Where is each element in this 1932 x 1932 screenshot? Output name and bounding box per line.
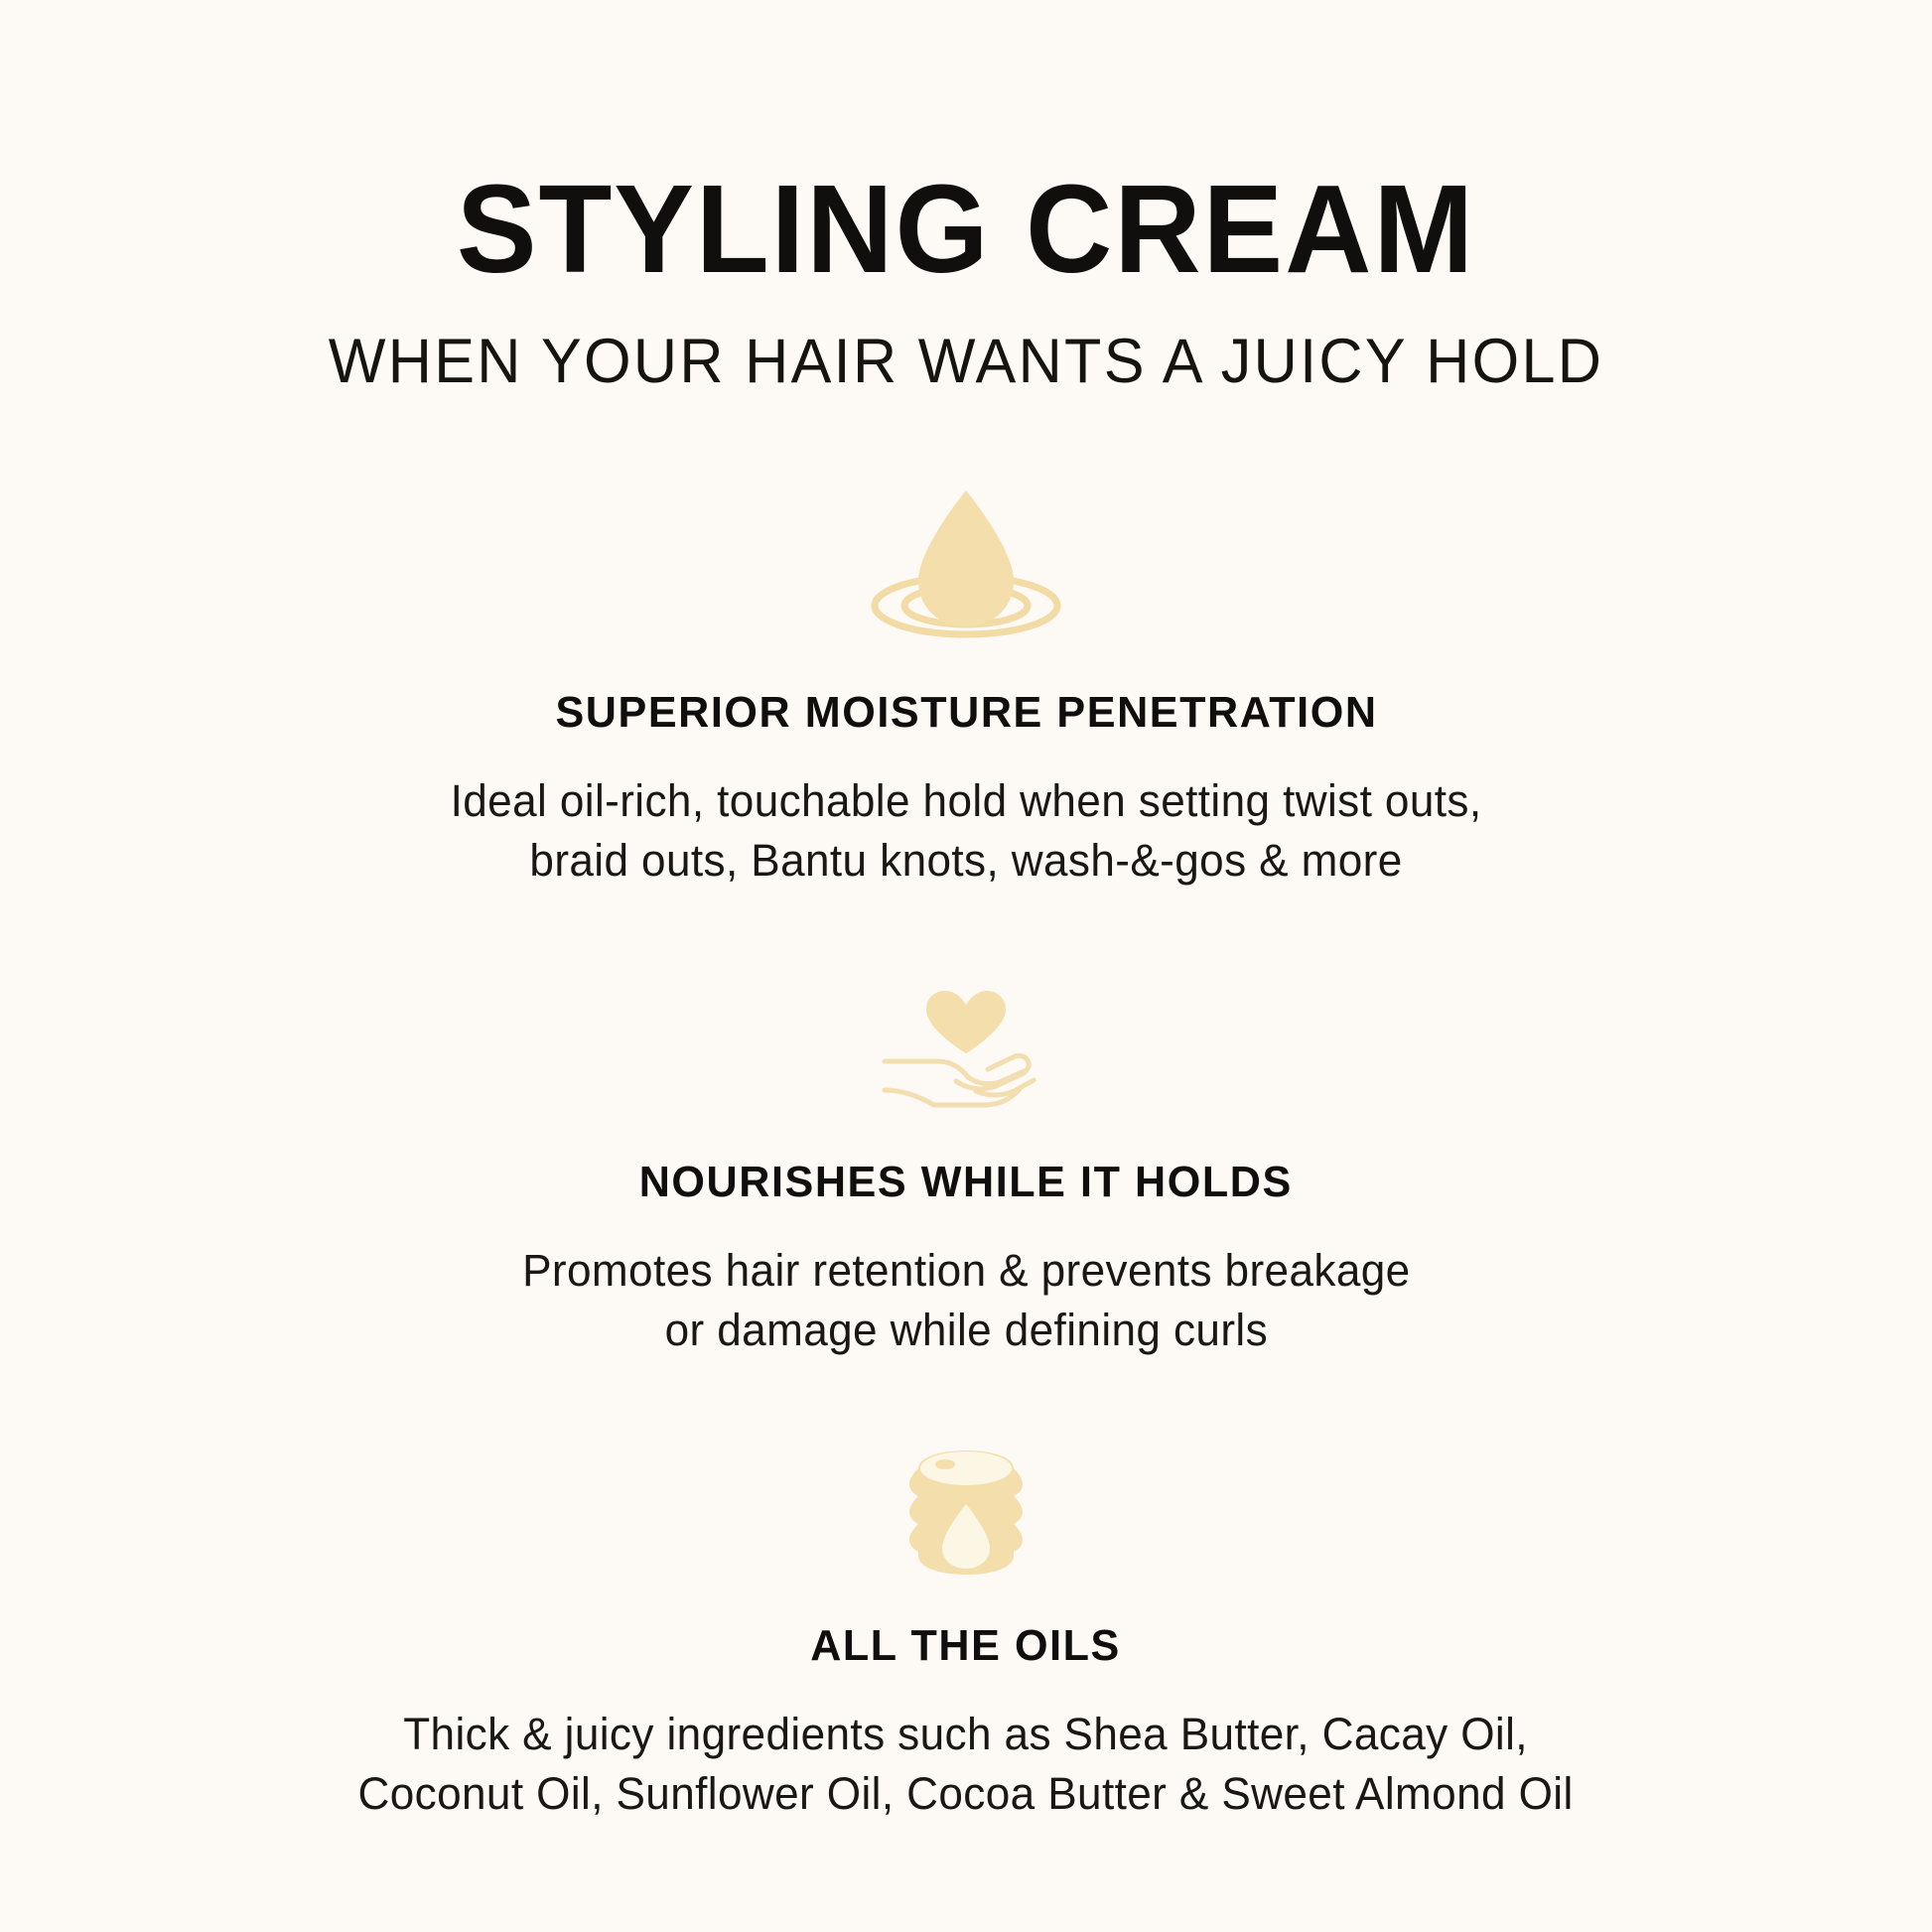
feature-body-nourish: Promotes hair retention & prevents break… (522, 1241, 1410, 1360)
feature-block-nourish: NOURISHES WHILE IT HOLDS Promotes hair r… (0, 986, 1932, 1360)
feature-body-line: Thick & juicy ingredients such as Shea B… (358, 1705, 1574, 1764)
feature-body-line: or damage while defining curls (522, 1301, 1410, 1360)
feature-heading-nourish: NOURISHES WHILE IT HOLDS (639, 1158, 1293, 1207)
feature-body-line: Ideal oil-rich, touchable hold when sett… (451, 771, 1482, 831)
feature-body-oils: Thick & juicy ingredients such as Shea B… (358, 1705, 1574, 1824)
feature-body-moisture: Ideal oil-rich, touchable hold when sett… (451, 771, 1482, 891)
page-title: STYLING CREAM (39, 167, 1893, 292)
oil-barrel-icon (892, 1445, 1040, 1584)
feature-body-line: Coconut Oil, Sunflower Oil, Cocoa Butter… (358, 1764, 1574, 1824)
feature-block-oils: ALL THE OILS Thick & juicy ingredients s… (0, 1445, 1932, 1824)
feature-list: SUPERIOR MOISTURE PENETRATION Ideal oil-… (0, 397, 1932, 1824)
feature-block-moisture: SUPERIOR MOISTURE PENETRATION Ideal oil-… (0, 483, 1932, 891)
page-subtitle: WHEN YOUR HAIR WANTS A JUICY HOLD (29, 326, 1903, 397)
feature-heading-moisture: SUPERIOR MOISTURE PENETRATION (555, 688, 1377, 738)
feature-body-line: braid outs, Bantu knots, wash-&-gos & mo… (451, 831, 1482, 891)
feature-body-line: Promotes hair retention & prevents break… (522, 1241, 1410, 1301)
water-drop-ripple-icon (847, 483, 1085, 646)
hand-holding-heart-icon (857, 986, 1075, 1120)
poster-header: STYLING CREAM WHEN YOUR HAIR WANTS A JUI… (0, 0, 1932, 397)
styling-cream-poster: STYLING CREAM WHEN YOUR HAIR WANTS A JUI… (0, 0, 1932, 1932)
feature-heading-oils: ALL THE OILS (811, 1621, 1122, 1671)
